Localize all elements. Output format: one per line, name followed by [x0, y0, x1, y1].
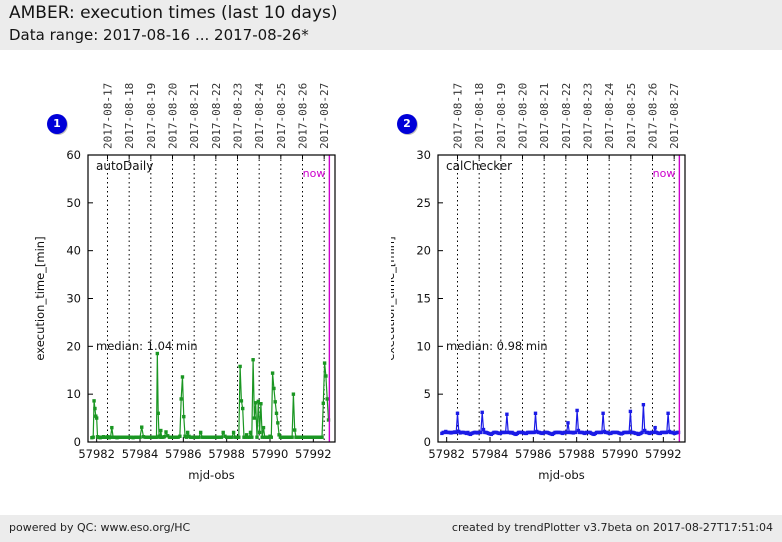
series-marker [322, 402, 325, 405]
top-date-label-7: 2017-08-24 [603, 82, 616, 149]
series-marker [179, 397, 182, 400]
series-marker [534, 412, 537, 415]
top-date-label-9: 2017-08-26 [647, 83, 660, 149]
series-marker [110, 426, 113, 429]
top-date-label-10: 2017-08-27 [668, 83, 681, 149]
chart-panel-1: 1 2017-08-172017-08-182017-08-192017-08-… [0, 50, 391, 515]
series-marker [93, 407, 96, 410]
series-marker [290, 436, 293, 439]
series-marker [197, 436, 200, 439]
y-tick-label-4: 20 [416, 244, 431, 258]
x-tick-label-3: 57988 [558, 447, 595, 461]
series-marker [566, 421, 569, 424]
series-marker [481, 411, 484, 414]
page-header: AMBER: execution times (last 10 days) Da… [0, 0, 782, 50]
series-marker [505, 413, 508, 416]
series-marker [271, 371, 274, 374]
data-range-subtitle: Data range: 2017-08-16 ... 2017-08-26* [9, 26, 309, 44]
y-tick-label-6: 30 [416, 148, 431, 162]
page-title: AMBER: execution times (last 10 days) [9, 3, 338, 23]
series-marker [259, 402, 262, 405]
plot-title: autoDaily [96, 159, 153, 173]
y-tick-label-1: 10 [66, 387, 81, 401]
series-marker [92, 399, 95, 402]
series-marker [275, 412, 278, 415]
y-tick-label-1: 5 [424, 387, 431, 401]
series-marker [241, 407, 244, 410]
series-marker [140, 425, 143, 428]
top-date-label-4: 2017-08-21 [538, 83, 551, 149]
series-marker [157, 412, 160, 415]
x-tick-label-5: 57992 [295, 447, 332, 461]
plot-frame [88, 155, 335, 442]
x-tick-label-2: 57986 [165, 447, 202, 461]
median-annotation: median: 1.04 min [96, 339, 198, 353]
page-footer: powered by QC: www.eso.org/HC created by… [0, 515, 782, 542]
series-marker [262, 426, 265, 429]
series-marker [249, 431, 252, 434]
series-marker [164, 430, 167, 433]
series-marker [199, 431, 202, 434]
y-tick-label-5: 50 [66, 196, 81, 210]
series-marker [182, 415, 185, 418]
series-marker [323, 361, 326, 364]
series-marker [232, 431, 235, 434]
top-date-label-5: 2017-08-22 [560, 83, 573, 149]
x-tick-label-4: 57990 [252, 447, 289, 461]
chart-panel-2: 2 2017-08-172017-08-182017-08-192017-08-… [391, 50, 782, 515]
footer-credit: powered by QC: www.eso.org/HC [9, 521, 190, 534]
series-marker [270, 436, 273, 439]
top-date-label-0: 2017-08-17 [102, 83, 115, 149]
y-tick-label-3: 15 [416, 292, 431, 306]
x-tick-label-1: 57984 [122, 447, 159, 461]
series-marker [163, 435, 166, 438]
series-marker [642, 403, 645, 406]
y-tick-label-5: 25 [416, 196, 431, 210]
top-date-label-8: 2017-08-25 [275, 83, 288, 149]
y-tick-label-2: 10 [416, 339, 431, 353]
top-date-label-3: 2017-08-20 [517, 83, 530, 149]
x-tick-label-4: 57990 [602, 447, 639, 461]
top-date-label-1: 2017-08-18 [473, 83, 486, 149]
series-marker [92, 436, 95, 439]
series-marker [251, 358, 254, 361]
series-marker [250, 436, 253, 439]
y-tick-label-4: 40 [66, 244, 81, 258]
series-marker [274, 400, 277, 403]
series-marker [320, 436, 323, 439]
top-date-label-0: 2017-08-17 [452, 83, 465, 149]
top-date-label-4: 2017-08-21 [188, 83, 201, 149]
series-marker [186, 431, 189, 434]
top-date-label-2: 2017-08-19 [495, 83, 508, 149]
median-annotation: median: 0.98 min [446, 339, 548, 353]
series-marker [255, 436, 258, 439]
series-marker [237, 436, 240, 439]
series-marker [326, 397, 329, 400]
x-tick-label-3: 57988 [208, 447, 245, 461]
top-date-label-3: 2017-08-20 [167, 83, 180, 149]
top-date-label-10: 2017-08-27 [318, 83, 331, 149]
now-label: now [653, 167, 676, 180]
x-axis-label: mjd-obs [538, 468, 584, 482]
x-axis-label: mjd-obs [188, 468, 234, 482]
series-marker [456, 412, 459, 415]
top-date-label-6: 2017-08-23 [232, 83, 245, 149]
series-marker [272, 387, 275, 390]
y-tick-label-2: 20 [66, 339, 81, 353]
y-tick-label-6: 60 [66, 148, 81, 162]
panel-badge-2[interactable]: 2 [397, 114, 417, 134]
series-marker [240, 399, 243, 402]
series-marker [178, 435, 181, 438]
x-tick-label-0: 57982 [428, 447, 465, 461]
footer-generator: created by trendPlotter v3.7beta on 2017… [452, 521, 773, 534]
series-marker [666, 412, 669, 415]
panel-badge-1[interactable]: 1 [47, 114, 67, 134]
top-date-label-6: 2017-08-23 [582, 83, 595, 149]
series-marker [138, 436, 141, 439]
series-marker [159, 429, 162, 432]
series-marker [95, 416, 98, 419]
series-marker [324, 374, 327, 377]
x-tick-label-1: 57984 [472, 447, 509, 461]
plot-title: calChecker [446, 159, 512, 173]
x-tick-label-0: 57982 [78, 447, 115, 461]
series-marker [653, 426, 656, 429]
series-marker [258, 431, 261, 434]
series-marker [230, 436, 233, 439]
y-tick-label-3: 30 [66, 292, 81, 306]
series-marker [629, 410, 632, 413]
series-marker [601, 412, 604, 415]
plot-frame [438, 155, 685, 442]
y-axis-label: execution_time_[min] [33, 236, 47, 360]
series-marker [292, 392, 295, 395]
y-axis-label: execution_time_[min] [391, 236, 397, 360]
series-marker [276, 421, 279, 424]
x-tick-label-2: 57986 [515, 447, 552, 461]
series-marker [238, 365, 241, 368]
series-marker [220, 436, 223, 439]
top-date-label-1: 2017-08-18 [123, 83, 136, 149]
top-date-label-8: 2017-08-25 [625, 83, 638, 149]
series-marker [293, 428, 296, 431]
series-marker [222, 431, 225, 434]
top-date-label-9: 2017-08-26 [297, 83, 310, 149]
series-marker [181, 375, 184, 378]
series-marker [253, 416, 256, 419]
now-label: now [303, 167, 326, 180]
chart-svg-calchecker[interactable]: 2017-08-172017-08-182017-08-192017-08-20… [391, 50, 782, 515]
top-date-label-7: 2017-08-24 [253, 82, 266, 149]
top-date-label-2: 2017-08-19 [145, 83, 158, 149]
top-date-label-5: 2017-08-22 [210, 83, 223, 149]
x-tick-label-5: 57992 [645, 447, 682, 461]
series-marker [575, 409, 578, 412]
